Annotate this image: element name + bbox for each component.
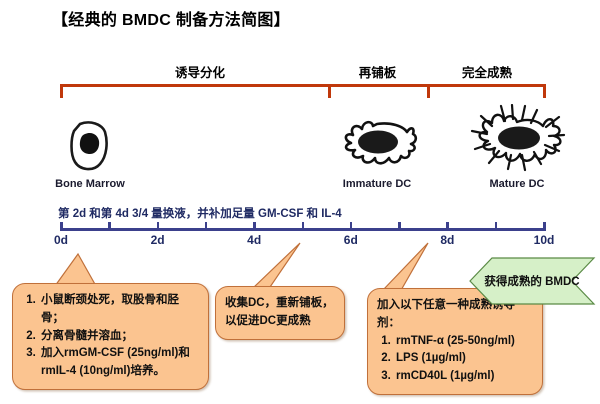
result-banner-label: 获得成熟的 BMDC: [468, 256, 596, 306]
callout-day6-line-1: 收集DC，重新铺板，: [225, 295, 335, 313]
list-item: 加入rmGM-CSF (25ng/ml)和rmIL-4 (10ng/ml)培养。: [39, 345, 199, 381]
callout-day8-list: rmTNF-α (25-50ng/ml) LPS (1µg/ml) rmCD40…: [377, 333, 533, 386]
bmdc-protocol-diagram: 【经典的 BMDC 制备方法简图】 诱导分化 再铺板 完全成熟 Bone Mar…: [0, 0, 600, 404]
result-banner: 获得成熟的 BMDC: [468, 256, 596, 306]
list-item: 小鼠断颈处死，取股骨和胫骨；: [39, 292, 199, 328]
list-item: 分离骨髓并溶血；: [39, 328, 199, 346]
list-item: rmTNF-α (25-50ng/ml): [394, 333, 533, 351]
callout-day6-line-2: 以促进DC更成熟: [225, 313, 335, 331]
callout-day0-list: 小鼠断颈处死，取股骨和胫骨； 分离骨髓并溶血； 加入rmGM-CSF (25ng…: [22, 292, 199, 381]
list-item: LPS (1µg/ml): [394, 350, 533, 368]
callout-day6-protocol: 收集DC，重新铺板， 以促进DC更成熟: [215, 286, 345, 340]
list-item: rmCD40L (1µg/ml): [394, 368, 533, 386]
callout-day0-protocol: 小鼠断颈处死，取股骨和胫骨； 分离骨髓并溶血； 加入rmGM-CSF (25ng…: [12, 283, 209, 390]
